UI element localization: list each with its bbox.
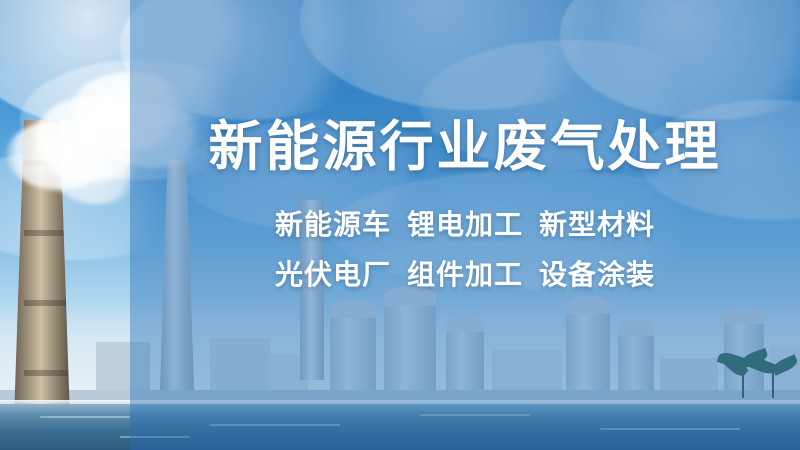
subline-1-item-2: 锂电加工 xyxy=(407,209,523,240)
banner-text-block: 新能源行业废气处理 新能源车锂电加工新型材料 光伏电厂组件加工设备涂装 xyxy=(130,0,800,450)
banner-subline-2: 光伏电厂组件加工设备涂装 xyxy=(275,261,655,289)
promo-banner: 新能源行业废气处理 新能源车锂电加工新型材料 光伏电厂组件加工设备涂装 xyxy=(0,0,800,450)
subline-2-item-1: 光伏电厂 xyxy=(275,259,391,290)
subline-2-item-3: 设备涂装 xyxy=(539,259,655,290)
smoke-plume xyxy=(52,146,142,204)
banner-headline: 新能源行业废气处理 xyxy=(209,118,722,177)
subline-2-item-2: 组件加工 xyxy=(407,259,523,290)
banner-subline-1: 新能源车锂电加工新型材料 xyxy=(275,211,655,239)
subline-1-item-3: 新型材料 xyxy=(539,209,655,240)
subline-1-item-1: 新能源车 xyxy=(275,209,391,240)
